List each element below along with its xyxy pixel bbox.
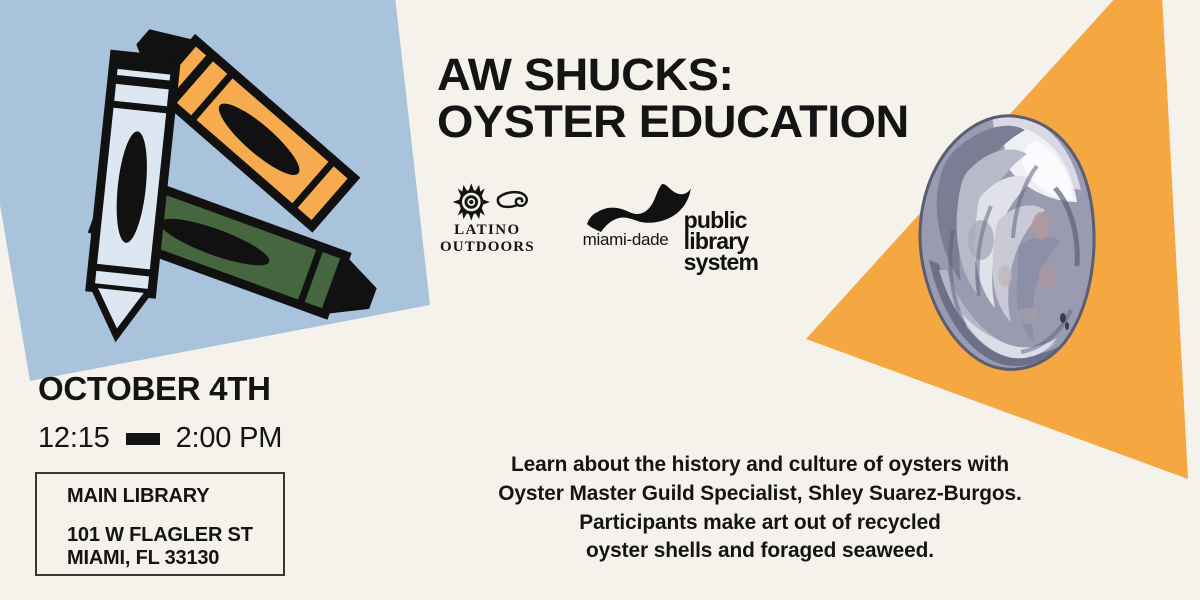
bird-flag-icon [585,182,695,234]
wave-hook-icon [498,192,527,207]
headline-line-2: OYSTER EDUCATION [437,99,1061,146]
description-line-2: Oyster Master Guild Specialist, Shley Su… [430,479,1090,508]
description-line-1: Learn about the history and culture of o… [430,450,1090,479]
event-time: 12:15 2:00 PM [38,422,282,455]
event-time-end: 2:00 PM [176,422,283,455]
page-title: AW SHUCKS: OYSTER EDUCATION [437,52,1037,146]
date-time-block: OCTOBER 4TH 12:15 2:00 PM [38,372,282,455]
oyster-shell-illustration [895,110,1125,380]
venue-address: 101 W FLAGLER ST MIAMI, FL 33130 [67,524,283,570]
event-date: OCTOBER 4TH [38,372,282,405]
logo-row: LATINO OUTDOORS miami-dade public librar… [440,182,753,264]
latino-outdoors-word-1: LATINO [440,222,535,239]
crayons-illustration [0,0,440,390]
venue-city-state-zip: MIAMI, FL 33130 [67,547,283,570]
description-line-3: Participants make art out of recycled [430,508,1090,537]
latino-outdoors-word-2: OUTDOORS [440,239,535,256]
venue-box: MAIN LIBRARY 101 W FLAGLER ST MIAMI, FL … [35,472,285,576]
venue-name: MAIN LIBRARY [67,486,283,506]
aztec-sun-icon [444,182,530,222]
mdpls-word-system: system [684,252,758,273]
event-time-start: 12:15 [38,422,110,455]
event-description: Learn about the history and culture of o… [430,450,1090,565]
headline-line-1: AW SHUCKS: [437,52,1061,99]
event-flyer: AW SHUCKS: OYSTER EDUCATION [0,0,1200,600]
logo-latino-outdoors: LATINO OUTDOORS [440,182,535,256]
logo-miami-dade-public-library-system: miami-dade public library system [583,182,753,264]
time-separator-dash-icon [126,433,160,445]
mdpls-prefix: miami-dade [583,230,669,250]
description-line-4: oyster shells and foraged seaweed. [430,536,1090,565]
venue-street: 101 W FLAGLER ST [67,524,283,547]
